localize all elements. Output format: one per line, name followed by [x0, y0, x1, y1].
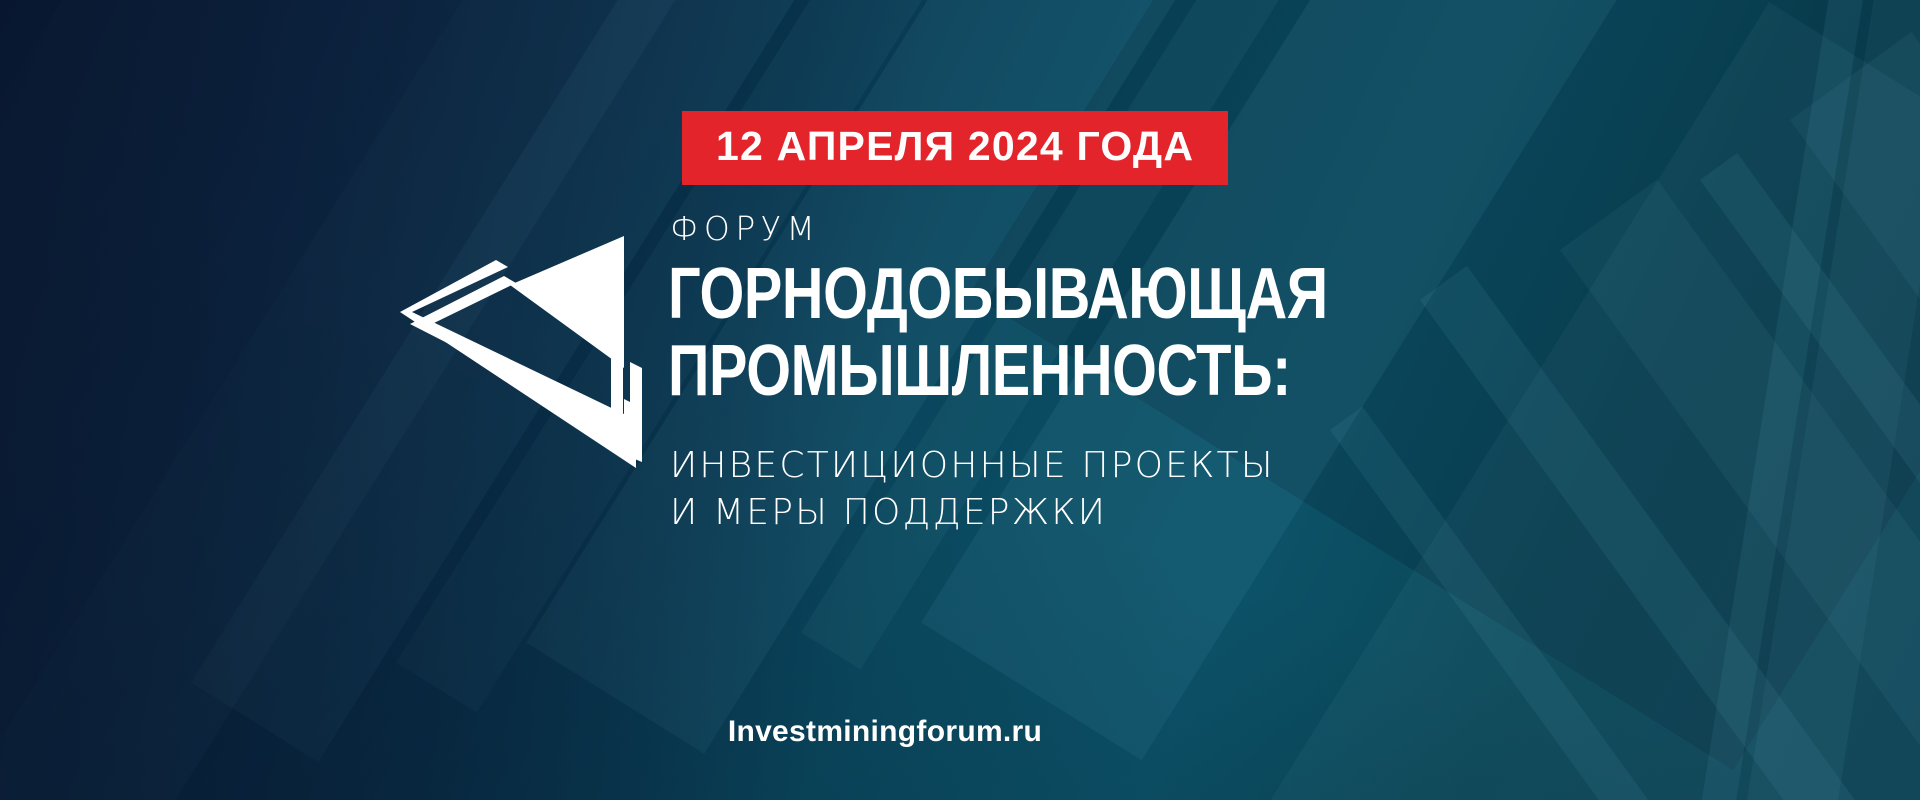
forum-triangle-logo-icon: [392, 200, 660, 500]
headline-line-2: ПРОМЫШЛЕННОСТЬ:: [668, 336, 1468, 407]
site-url-container: Investminingforum.ru: [0, 715, 1920, 749]
event-date-badge: 12 АПРЕЛЯ 2024 ГОДА: [682, 111, 1228, 185]
banner-text-block: ФОРУМ ГОРНОДОБЫВАЮЩАЯ ПРОМЫШЛЕННОСТЬ: ИН…: [668, 212, 1668, 537]
subheadline: ИНВЕСТИЦИОННЫЕ ПРОЕКТЫ И МЕРЫ ПОДДЕРЖКИ: [670, 442, 1668, 537]
forum-kicker-label: ФОРУМ: [670, 212, 1668, 245]
forum-promo-banner: 12 АПРЕЛЯ 2024 ГОДА ФОРУМ ГОРНОДОБЫВАЮЩА…: [0, 0, 1920, 800]
headline-line-1: ГОРНОДОБЫВАЮЩАЯ: [668, 259, 1468, 330]
site-url-link[interactable]: Investminingforum.ru: [728, 715, 1042, 749]
subheadline-line-1: ИНВЕСТИЦИОННЫЕ ПРОЕКТЫ: [670, 442, 1668, 490]
subheadline-line-2: И МЕРЫ ПОДДЕРЖКИ: [670, 489, 1668, 537]
